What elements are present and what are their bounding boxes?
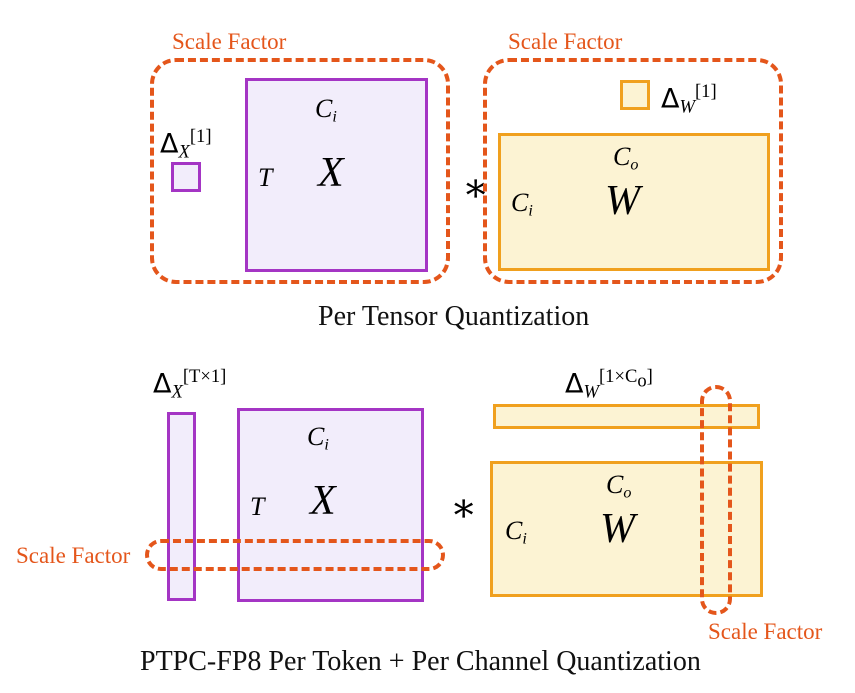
delta-subscript: X (171, 382, 182, 403)
scale-factor-label-top-left: Scale Factor (172, 30, 286, 53)
activation-col-label-bottom: Ci (307, 424, 329, 454)
delta-x-scale-column-bottom (167, 412, 196, 601)
delta-superscript-sub: o (637, 370, 646, 391)
delta-x-label-top: ΔX[1] (160, 128, 212, 162)
delta-subscript: W (583, 382, 599, 403)
delta-subscript: W (679, 97, 695, 118)
caption-top: Per Tensor Quantization (318, 303, 589, 331)
delta-subscript: X (178, 142, 189, 163)
delta-superscript: [1] (695, 81, 717, 102)
delta-x-scale-square-top (171, 162, 201, 192)
weight-matrix-letter-top: W (605, 180, 640, 222)
activation-row-label-top: T (258, 165, 272, 191)
delta-w-scale-square-top (620, 80, 650, 110)
delta-symbol: Δ (153, 368, 171, 399)
weight-row-label-bottom: Ci (505, 518, 527, 548)
delta-superscript-end: ] (647, 366, 653, 387)
weight-row-label-top: Ci (511, 190, 533, 220)
weight-col-label-bottom: Co (606, 472, 631, 502)
delta-symbol: Δ (160, 128, 178, 159)
activation-col-label-top: Ci (315, 96, 337, 126)
delta-x-label-bottom: ΔX[T×1] (153, 368, 226, 402)
scale-factor-region-bottom-left (145, 539, 445, 571)
scale-factor-region-bottom-right (700, 385, 732, 615)
delta-w-label-bottom: ΔW[1×Co] (565, 368, 653, 402)
activation-row-label-bottom: T (250, 494, 264, 520)
activation-matrix-letter-top: X (318, 152, 344, 194)
figure-canvas: Scale Factor ΔX[1] Ci T X ∗ Scale Factor… (0, 0, 855, 693)
multiply-operator-bottom: ∗ (450, 488, 477, 528)
delta-w-label-top: ΔW[1] (661, 83, 717, 117)
caption-bottom: PTPC-FP8 Per Token + Per Channel Quantiz… (140, 648, 701, 676)
scale-factor-label-bottom-left: Scale Factor (16, 544, 130, 567)
delta-symbol: Δ (565, 368, 583, 399)
scale-factor-label-bottom-right: Scale Factor (708, 620, 822, 643)
activation-matrix-letter-bottom: X (310, 480, 336, 522)
delta-symbol: Δ (661, 83, 679, 114)
weight-col-label-top: Co (613, 144, 638, 174)
delta-superscript: [1] (190, 126, 212, 147)
scale-factor-label-top-right: Scale Factor (508, 30, 622, 53)
weight-matrix-letter-bottom: W (600, 508, 635, 550)
delta-superscript: [T×1] (183, 366, 227, 387)
delta-superscript-start: [1×C (599, 366, 637, 387)
